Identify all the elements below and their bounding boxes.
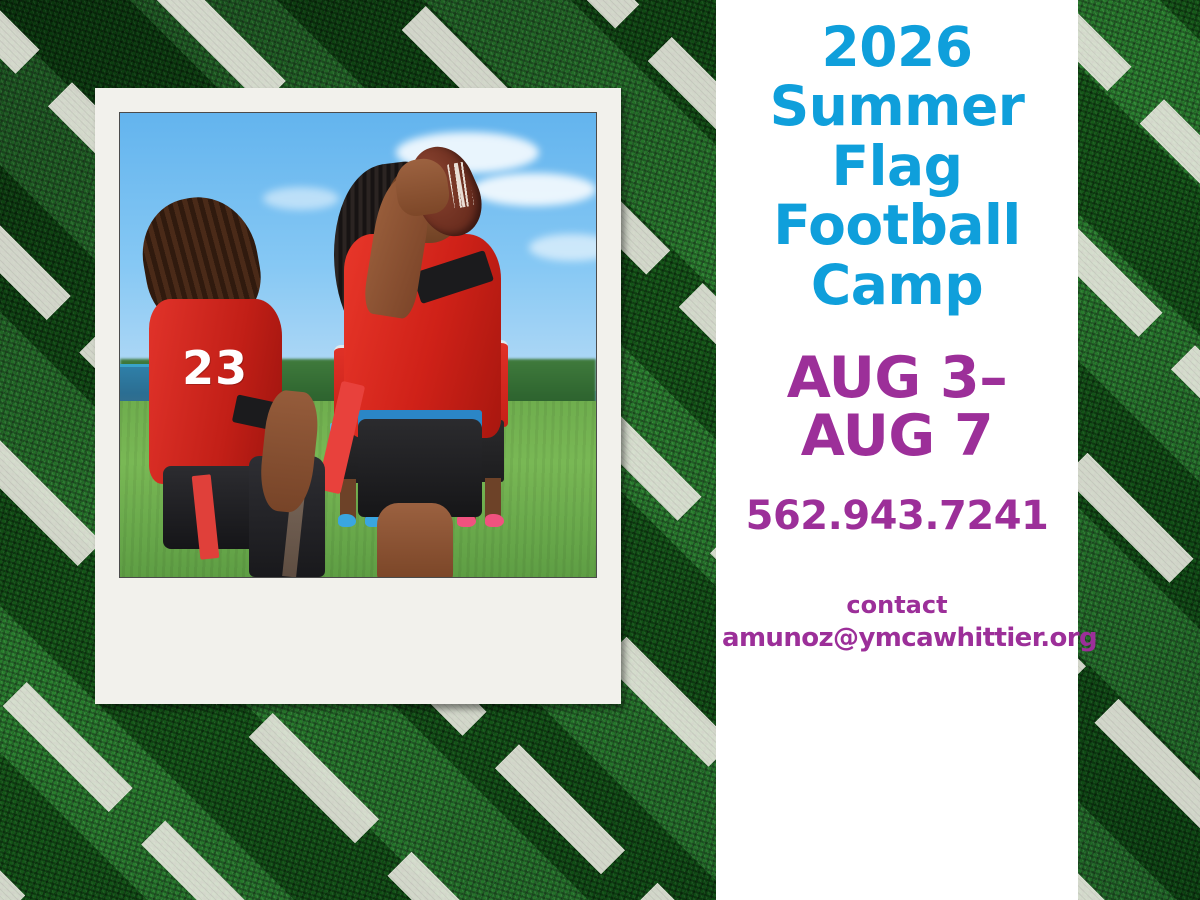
- phone-number[interactable]: 562.943.7241: [722, 493, 1072, 539]
- contact-email[interactable]: amunoz@ymcawhittier.org: [722, 623, 1072, 653]
- jersey-number: 23: [149, 345, 282, 391]
- date-line-end: AUG 7: [722, 407, 1072, 465]
- camp-dates: AUG 3– AUG 7: [722, 349, 1072, 465]
- headline-line-summer: Summer: [722, 77, 1072, 136]
- headline-line-year: 2026: [722, 18, 1072, 77]
- player-shoe: [485, 514, 504, 527]
- date-line-start: AUG 3–: [722, 349, 1072, 407]
- info-panel: 2026 Summer Flag Football Camp AUG 3– AU…: [716, 0, 1078, 900]
- flyer-canvas: 82: [0, 0, 1200, 900]
- headline-line-flag: Flag: [722, 137, 1072, 196]
- polaroid-photo-card: 82: [95, 88, 621, 704]
- headline-line-football: Football: [722, 196, 1072, 255]
- page-title: 2026 Summer Flag Football Camp: [722, 18, 1072, 315]
- contact-label: contact: [722, 591, 1072, 619]
- player-leg: [377, 503, 453, 578]
- headline-line-camp: Camp: [722, 256, 1072, 315]
- camp-photo: 82: [119, 112, 597, 578]
- player-shoe: [338, 514, 356, 526]
- contact-block: contact amunoz@ymcawhittier.org: [722, 591, 1072, 653]
- cloud-icon: [472, 173, 596, 205]
